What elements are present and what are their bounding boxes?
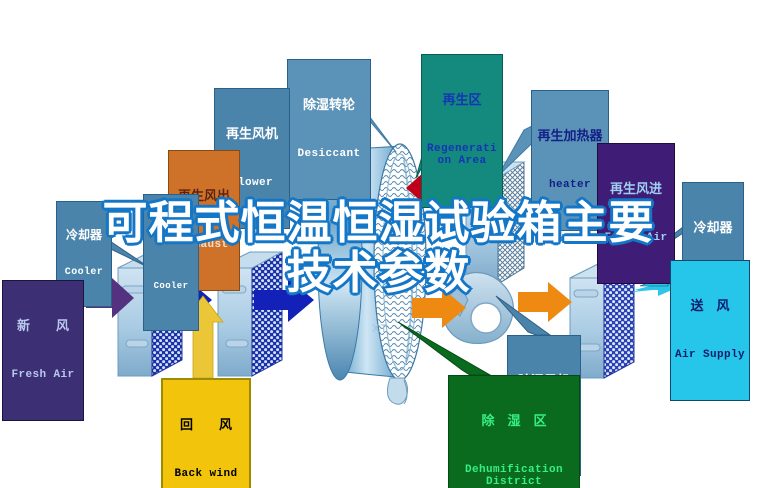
label-air-supply: 送 风 Air Supply — [670, 260, 750, 401]
label-regeneration-area-en: Regenerati on Area — [426, 143, 498, 168]
label-fresh-air-inlet-cn: 新 风 — [7, 319, 79, 334]
label-fresh-air-regen-inlet-cn: 再生风进 — [602, 182, 670, 197]
label-desiccant-en: Desiccant — [292, 148, 366, 160]
label-cooler-right-cn: 冷却器 — [687, 221, 739, 236]
label-desiccant: 除湿转轮 Desiccant — [287, 59, 371, 200]
label-back-wind: 回 风 Back wind — [161, 378, 251, 488]
label-cooler-left-en: Cooler — [61, 267, 107, 278]
label-dehumidification-district-en: Dehumification District — [453, 464, 575, 488]
label-fresh-air-regen-inlet: 再生风进 Fresh Air — [597, 143, 675, 284]
label-fresh-air-inlet: 新 风 Fresh Air — [2, 280, 84, 421]
label-back-wind-cn: 回 风 — [167, 418, 245, 433]
label-regen-heater-cn: 再生加热器 — [536, 129, 604, 144]
label-dehumidification-district-cn: 除 湿 区 — [453, 414, 575, 429]
rotor-watermark: XT — [372, 323, 388, 335]
label-regen-heater-en: heater — [536, 179, 604, 191]
label-regeneration-area-cn: 再生区 — [426, 93, 498, 108]
label-regeneration-area: 再生区 Regenerati on Area — [421, 54, 503, 208]
dry-air-arrow-2-graphic — [518, 282, 572, 322]
label-back-wind-en: Back wind — [167, 468, 245, 480]
label-air-supply-en: Air Supply — [675, 349, 745, 361]
label-fresh-air-regen-inlet-en: Fresh Air — [602, 232, 670, 244]
label-cooler-mid-cn: 冷却器 — [148, 233, 194, 245]
label-dehumidification-district: 除 湿 区 Dehumification District — [448, 375, 580, 488]
label-air-supply-cn: 送 风 — [675, 299, 745, 314]
label-fresh-air-inlet-en: Fresh Air — [7, 369, 79, 381]
diagram-canvas: XT — [0, 0, 757, 488]
label-cooler-left-cn: 冷却器 — [61, 229, 107, 242]
label-cooler-mid: 冷却器 Cooler — [143, 194, 199, 331]
label-desiccant-cn: 除湿转轮 — [292, 98, 366, 113]
label-cooler-mid-en: Cooler — [148, 281, 194, 291]
label-regen-blower-cn: 再生风机 — [219, 127, 285, 142]
